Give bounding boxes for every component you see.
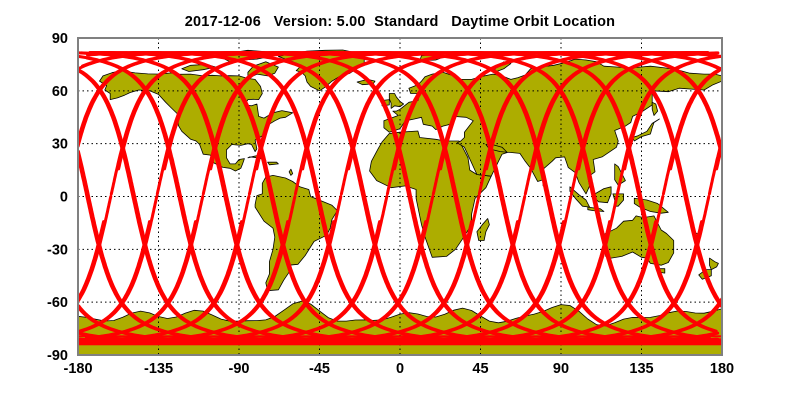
y-tick-label: 90 xyxy=(52,31,68,47)
x-axis-tick-labels: -180-135-90-4504590135180 xyxy=(63,361,734,377)
x-tick-label: 135 xyxy=(629,361,653,377)
polar-convergence-band-upper xyxy=(78,335,722,337)
polar-convergence-band xyxy=(78,338,722,345)
x-tick-label: 180 xyxy=(710,361,734,377)
y-tick-label: 0 xyxy=(60,190,68,206)
x-tick-label: 45 xyxy=(472,361,488,377)
y-axis-tick-labels: -90-60-300306090 xyxy=(47,31,68,364)
y-tick-label: -30 xyxy=(47,242,68,258)
y-tick-label: -90 xyxy=(47,348,68,364)
orbit-map-chart: -180-135-90-4504590135180 -90-60-3003060… xyxy=(0,0,800,400)
y-tick-label: -60 xyxy=(47,295,68,311)
y-tick-label: 30 xyxy=(52,137,68,153)
x-tick-label: -45 xyxy=(309,361,330,377)
orbit-location-figure: 2017-12-06 Version: 5.00 Standard Daytim… xyxy=(0,0,800,400)
y-tick-label: 60 xyxy=(52,84,68,100)
x-tick-label: -90 xyxy=(229,361,250,377)
landmass-hispaniola xyxy=(268,162,279,165)
x-tick-label: 0 xyxy=(396,361,404,377)
x-tick-label: 90 xyxy=(553,361,569,377)
x-tick-label: -135 xyxy=(144,361,173,377)
